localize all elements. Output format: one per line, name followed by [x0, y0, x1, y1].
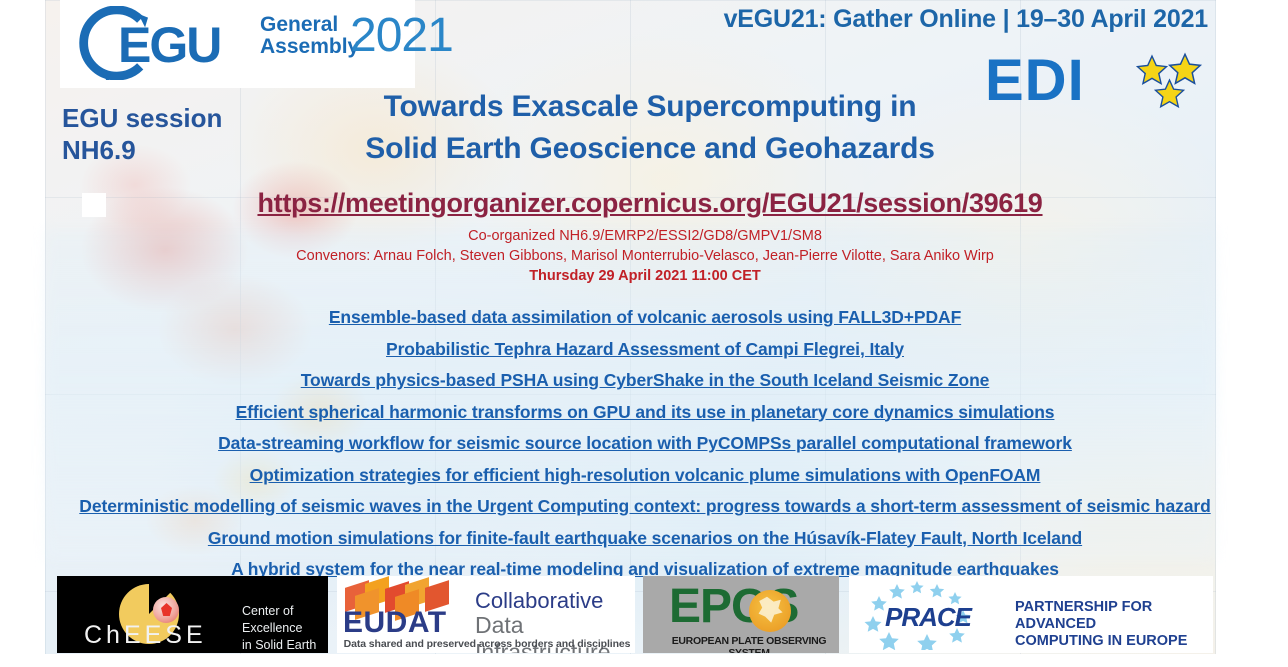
- egu-logo-year: 2021: [350, 8, 453, 63]
- egu-logo-line2: Assembly: [260, 36, 359, 58]
- cheese-logo: ChEESE Center of Excellence in Solid Ear…: [57, 576, 328, 653]
- placeholder-square: [82, 193, 106, 217]
- prace-logo-name: PRACE: [885, 602, 971, 633]
- egu-logo-general-assembly: General Assembly: [260, 14, 359, 58]
- session-datetime: Thursday 29 April 2021 11:00 CET: [100, 268, 1190, 284]
- cheese-tagline-line1: Center of Excellence: [242, 603, 328, 637]
- edi-badge: EDI: [985, 52, 1210, 114]
- partner-logos: ChEESE Center of Excellence in Solid Ear…: [0, 576, 1288, 654]
- event-banner: vEGU21: Gather Online | 19–30 April 2021: [663, 5, 1208, 34]
- page-title-line1: Towards Exascale Supercomputing in: [300, 86, 1000, 128]
- session-label-line2: NH6.9: [62, 134, 312, 166]
- talk-link[interactable]: Deterministic modelling of seismic waves…: [60, 495, 1230, 519]
- cheese-logo-tagline: Center of Excellence in Solid Earth: [242, 603, 328, 653]
- eudat-logo-name: EUDAT: [343, 606, 447, 640]
- bottom-white-strip: [0, 654, 1288, 667]
- talk-link[interactable]: Data-streaming workflow for seismic sour…: [60, 432, 1230, 456]
- epos-logo: EPOS EUROPEAN PLATE OBSERVING SYSTEM: [643, 576, 839, 653]
- eudat-line1: Collaborative: [475, 588, 603, 614]
- session-label: EGU session NH6.9: [62, 102, 312, 166]
- egu-logo: EGU General Assembly 2021: [60, 0, 415, 88]
- egu-logo-line1: General: [260, 14, 359, 36]
- cheese-logo-name: ChEESE: [84, 621, 207, 650]
- talk-link[interactable]: Ground motion simulations for finite-fau…: [60, 527, 1230, 551]
- eudat-logo: EUDAT Collaborative Data Infrastructure …: [337, 576, 635, 653]
- epos-logo-inner: EPOS EUROPEAN PLATE OBSERVING SYSTEM: [651, 580, 831, 649]
- convenors-text: Convenors: Arnau Folch, Steven Gibbons, …: [100, 248, 1190, 264]
- prace-subtitle-line2: COMPUTING IN EUROPE: [1015, 633, 1213, 650]
- talk-link[interactable]: Optimization strategies for efficient hi…: [60, 464, 1230, 488]
- page-title-line2: Solid Earth Geoscience and Geohazards: [300, 128, 1000, 170]
- prace-logo: PRACE PARTNERSHIP FOR ADVANCED COMPUTING…: [849, 576, 1213, 653]
- egu-logo-acronym: EGU: [118, 16, 220, 74]
- talk-link[interactable]: Efficient spherical harmonic transforms …: [60, 401, 1230, 425]
- epos-logo-subtitle: EUROPEAN PLATE OBSERVING SYSTEM: [661, 635, 837, 653]
- talk-link[interactable]: Towards physics-based PSHA using CyberSh…: [60, 369, 1230, 393]
- talk-list: Ensemble-based data assimilation of volc…: [60, 306, 1230, 590]
- cheese-tagline-line2: in Solid Earth: [242, 637, 328, 653]
- prace-subtitle-line1: PARTNERSHIP FOR ADVANCED: [1015, 599, 1213, 633]
- session-label-line1: EGU session: [62, 102, 312, 134]
- talk-link[interactable]: Ensemble-based data assimilation of volc…: [60, 306, 1230, 330]
- session-url-link[interactable]: https://meetingorganizer.copernicus.org/…: [120, 188, 1180, 219]
- eudat-tagline: Data shared and preserved across borders…: [343, 638, 631, 650]
- talk-link[interactable]: Probabilistic Tephra Hazard Assessment o…: [60, 338, 1230, 362]
- presentation-slide: EGU General Assembly 2021 vEGU21: Gather…: [0, 0, 1288, 667]
- page-title: Towards Exascale Supercomputing in Solid…: [300, 86, 1000, 170]
- co-organized-text: Co-organized NH6.9/EMRP2/ESSI2/GD8/GMPV1…: [100, 228, 1190, 244]
- star-icon: [1153, 78, 1186, 111]
- prace-logo-subtitle: PARTNERSHIP FOR ADVANCED COMPUTING IN EU…: [1015, 599, 1213, 650]
